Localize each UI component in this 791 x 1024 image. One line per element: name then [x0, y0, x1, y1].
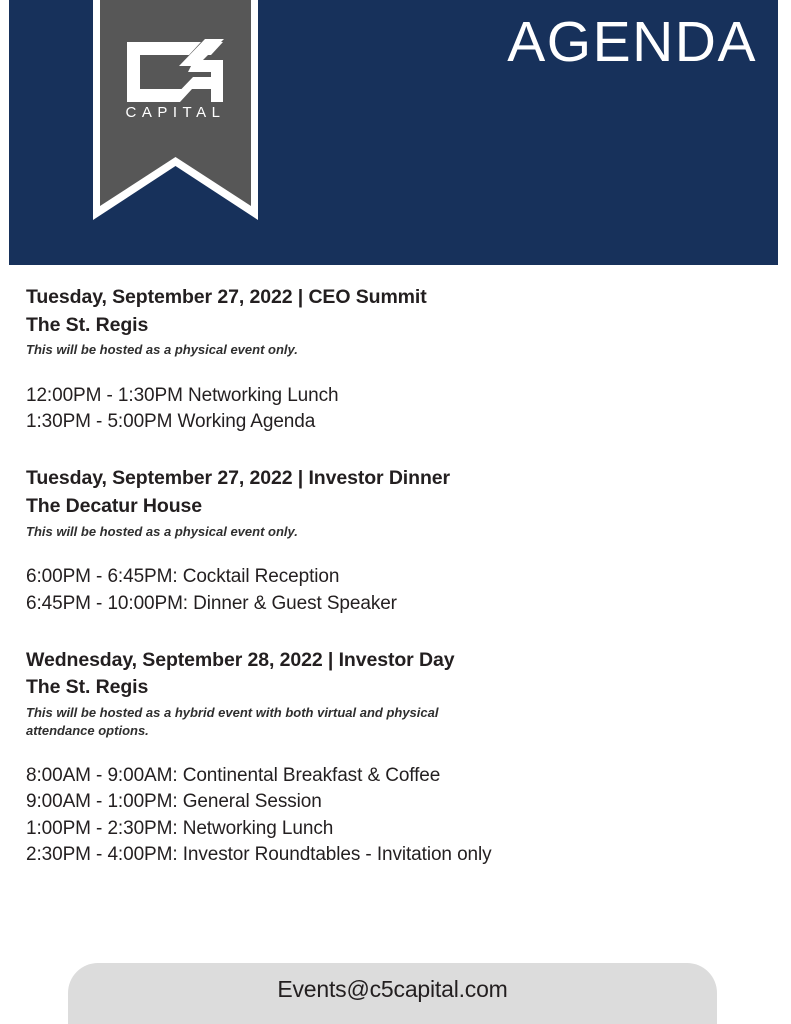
section-title: Tuesday, September 27, 2022 | CEO Summit	[26, 284, 726, 312]
c5-capital-logo: CAPITAL	[93, 0, 258, 220]
agenda-item: 9:00AM - 1:00PM: General Session	[26, 789, 726, 815]
section-venue: The Decatur House	[26, 493, 726, 521]
section-note: This will be hosted as a physical event …	[26, 341, 496, 359]
section-items: 6:00PM - 6:45PM: Cocktail Reception 6:45…	[26, 564, 726, 616]
logo-wordmark: CAPITAL	[126, 104, 226, 121]
section-title: Wednesday, September 28, 2022 | Investor…	[26, 647, 726, 675]
agenda-item: 1:00PM - 2:30PM: Networking Lunch	[26, 816, 726, 842]
agenda-item: 12:00PM - 1:30PM Networking Lunch	[26, 383, 726, 409]
section-venue: The St. Regis	[26, 674, 726, 702]
agenda-section: Wednesday, September 28, 2022 | Investor…	[26, 647, 726, 868]
page-title: AGENDA	[507, 11, 757, 74]
section-items: 8:00AM - 9:00AM: Continental Breakfast &…	[26, 763, 726, 868]
agenda-item: 6:00PM - 6:45PM: Cocktail Reception	[26, 564, 726, 590]
agenda-item: 8:00AM - 9:00AM: Continental Breakfast &…	[26, 763, 726, 789]
agenda-item: 6:45PM - 10:00PM: Dinner & Guest Speaker	[26, 591, 726, 617]
agenda-content: Tuesday, September 27, 2022 | CEO Summit…	[26, 284, 726, 868]
contact-email[interactable]: Events@c5capital.com	[68, 976, 717, 1003]
section-note: This will be hosted as a hybrid event wi…	[26, 704, 496, 739]
section-note: This will be hosted as a physical event …	[26, 523, 496, 541]
section-title: Tuesday, September 27, 2022 | Investor D…	[26, 465, 726, 493]
section-items: 12:00PM - 1:30PM Networking Lunch 1:30PM…	[26, 383, 726, 435]
agenda-section: Tuesday, September 27, 2022 | Investor D…	[26, 465, 726, 616]
agenda-item: 1:30PM - 5:00PM Working Agenda	[26, 409, 726, 435]
agenda-item: 2:30PM - 4:00PM: Investor Roundtables - …	[26, 842, 726, 868]
section-venue: The St. Regis	[26, 312, 726, 340]
agenda-section: Tuesday, September 27, 2022 | CEO Summit…	[26, 284, 726, 435]
footer-bar: Events@c5capital.com	[68, 963, 717, 1024]
